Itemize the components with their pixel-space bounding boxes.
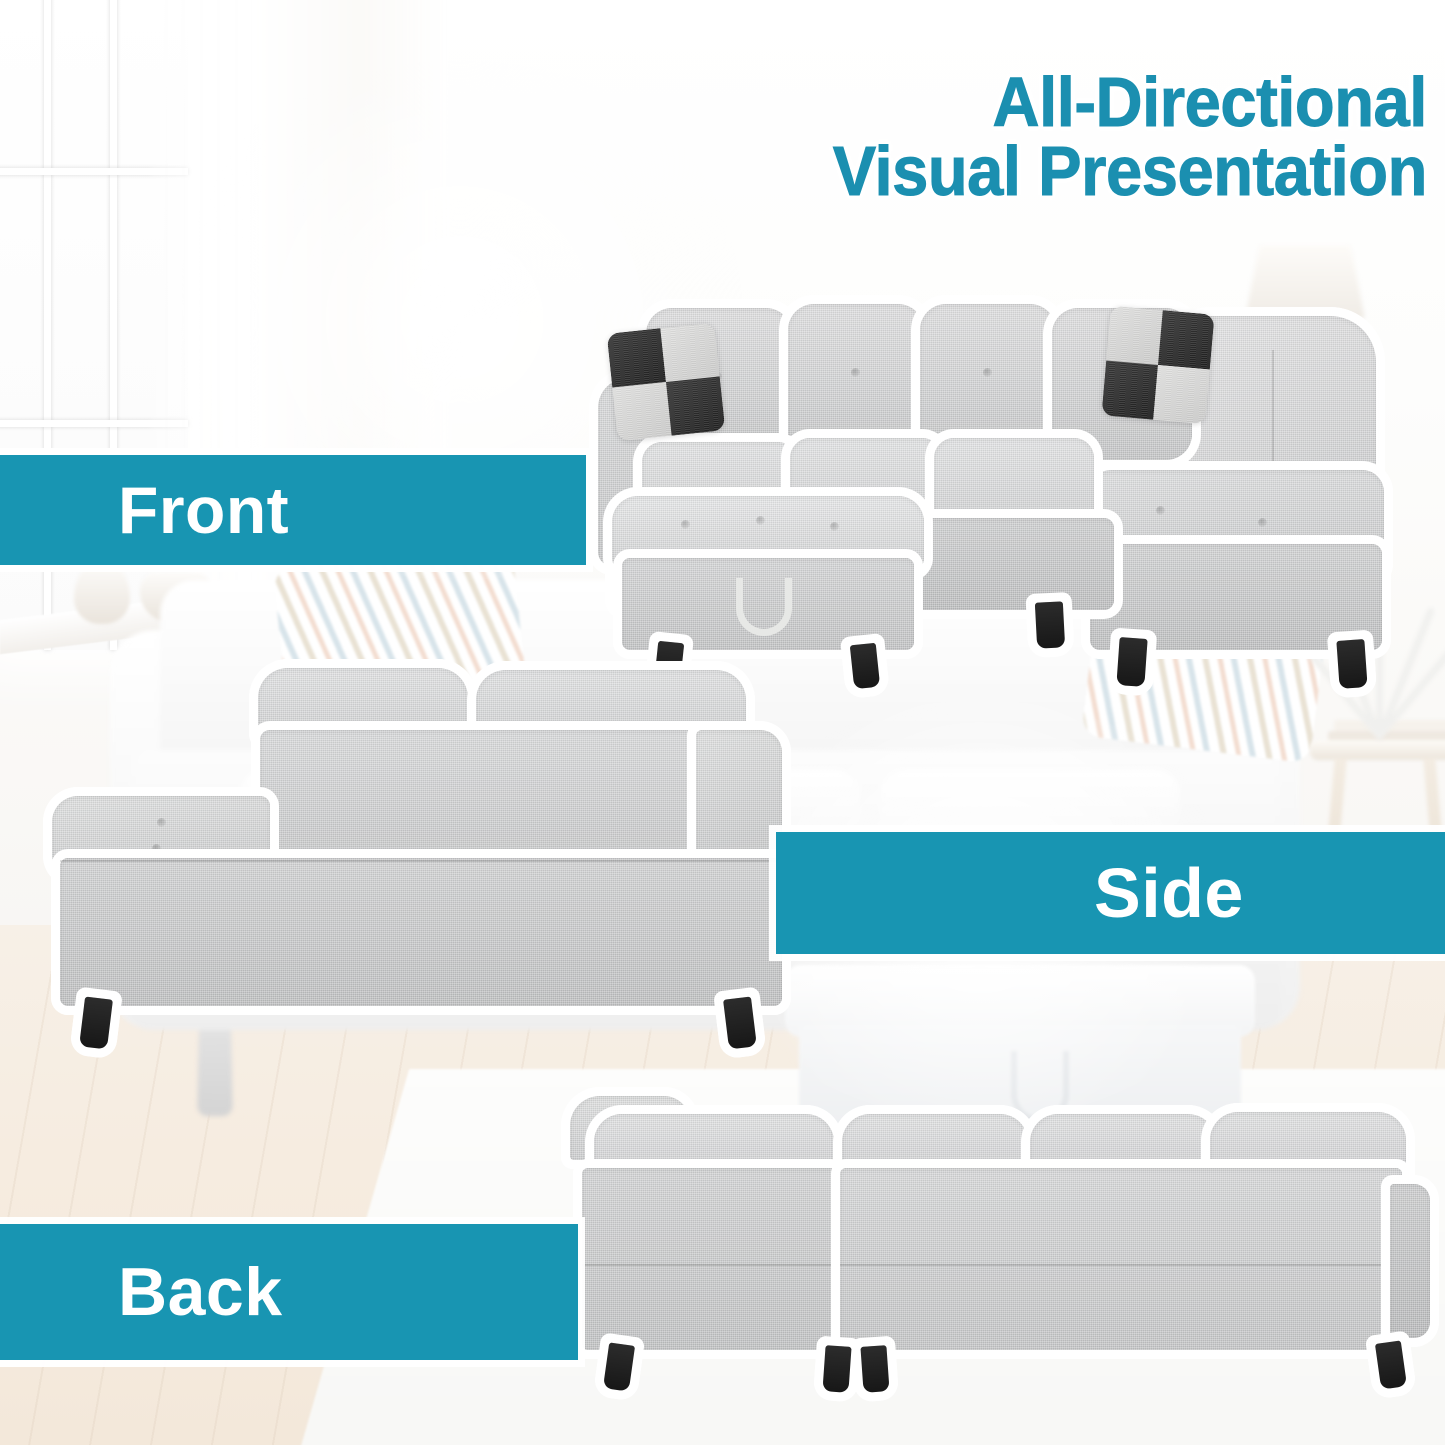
front-chaise-leg-left: [1116, 637, 1147, 687]
front-view-sectional: [598, 282, 1445, 682]
headline-line-1: All-Directional: [833, 68, 1427, 137]
side-view-sectional: [58, 668, 788, 1028]
back-leg-1: [603, 1342, 635, 1391]
front-backrest-cushion-3: [920, 304, 1056, 460]
front-chaise-leg-right: [1336, 639, 1367, 689]
back-left-return-panel: [582, 1168, 836, 1350]
back-view-sectional: [560, 1098, 1440, 1428]
front-backrest-cushion-2: [788, 304, 924, 460]
front-checkered-pillow-left: [607, 323, 726, 442]
back-leg-4: [1375, 1340, 1407, 1389]
banner-front: Front: [0, 455, 586, 565]
back-leg-2: [822, 1345, 851, 1393]
side-back-panel: [260, 730, 754, 860]
banner-back: Back: [0, 1224, 578, 1360]
back-main-panel: [840, 1168, 1402, 1350]
side-right-arm: [696, 730, 782, 858]
back-leg-3: [860, 1345, 889, 1393]
front-sofa-leg-left: [1035, 601, 1065, 648]
front-checkered-pillow-right: [1101, 306, 1214, 425]
ottoman-pull-strap: [736, 578, 792, 636]
front-storage-ottoman: [612, 496, 924, 682]
banner-side: Side: [776, 832, 1445, 954]
infographic-canvas: Front Side Back All-Directional Visual P…: [0, 0, 1445, 1445]
front-chaise-base: [1090, 544, 1382, 650]
side-leg-right: [723, 996, 757, 1049]
headline: All-Directional Visual Presentation: [833, 68, 1427, 205]
headline-line-2: Visual Presentation: [833, 137, 1427, 206]
back-right-arm-edge: [1390, 1184, 1430, 1338]
side-sofa-base: [60, 858, 782, 1006]
ottoman-leg-right: [850, 643, 880, 689]
